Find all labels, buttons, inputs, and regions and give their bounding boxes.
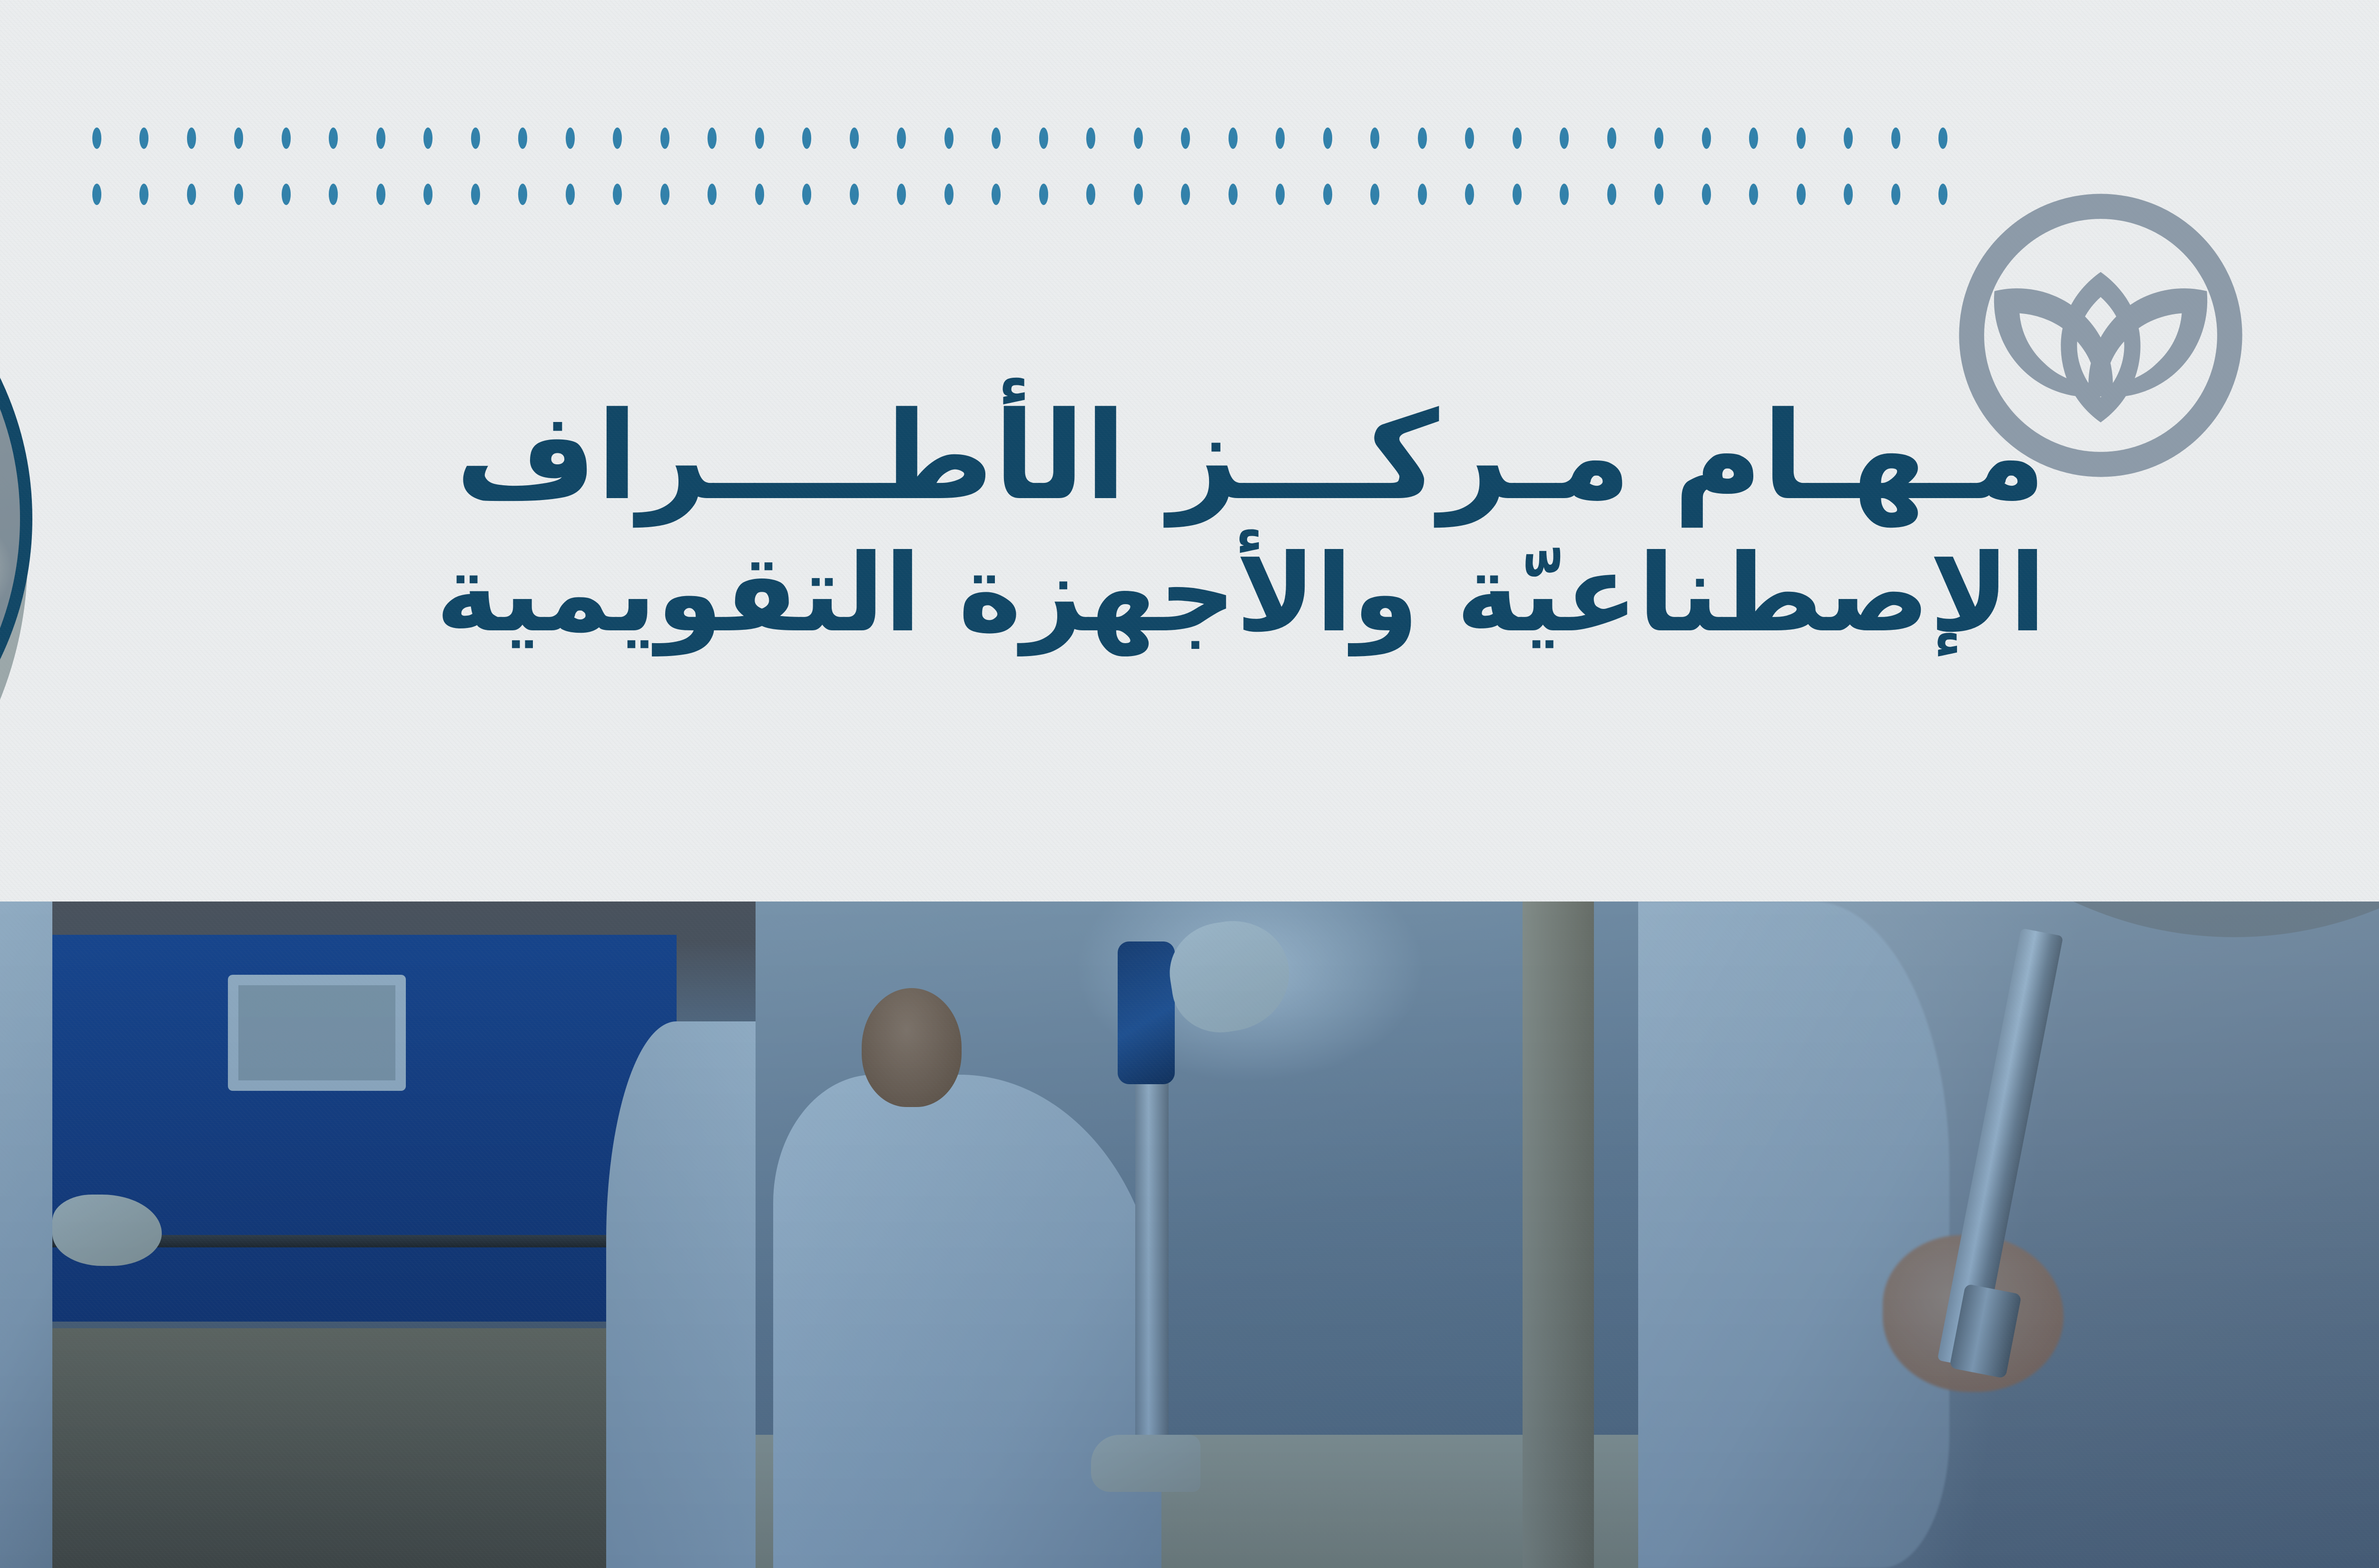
- photo-strip: [0, 902, 2379, 1568]
- dot-row-top: [92, 127, 1947, 149]
- dot: [1370, 184, 1379, 205]
- dot: [1607, 184, 1616, 205]
- dot: [1134, 184, 1143, 205]
- dot: [1370, 127, 1379, 149]
- dot: [92, 184, 101, 205]
- dot: [944, 127, 954, 149]
- dot: [1229, 184, 1238, 205]
- dot: [708, 184, 717, 205]
- dot: [1134, 127, 1143, 149]
- dot: [660, 184, 669, 205]
- dot: [1560, 127, 1569, 149]
- dot: [1323, 184, 1332, 205]
- dot: [850, 127, 859, 149]
- dot: [1513, 127, 1522, 149]
- dot: [1844, 184, 1853, 205]
- dot-row-bottom: [92, 184, 1947, 206]
- dot: [1560, 184, 1569, 205]
- dot: [329, 127, 338, 149]
- photo-blue-overlay: [0, 902, 756, 1568]
- dot: [1418, 127, 1427, 149]
- dot: [1181, 184, 1190, 205]
- dot: [897, 127, 906, 149]
- dot: [613, 184, 622, 205]
- dot: [1039, 184, 1048, 205]
- dot: [1276, 184, 1285, 205]
- dot: [1086, 184, 1095, 205]
- dot: [1465, 127, 1474, 149]
- dot: [234, 184, 243, 205]
- dot: [1654, 127, 1663, 149]
- page-title: مـهـام مـركـــز الأطــــراف الإصطناعيّة …: [0, 395, 2046, 649]
- dot: [234, 127, 243, 149]
- dot: [1749, 184, 1758, 205]
- dot: [897, 184, 906, 205]
- prosthetist-leg-photo: [756, 902, 1638, 1568]
- banner-root: مـهـام مـركـــز الأطــــراف الإصطناعيّة …: [0, 0, 2379, 1568]
- dot: [992, 127, 1001, 149]
- dot: [376, 127, 385, 149]
- dot: [1465, 184, 1474, 205]
- dot: [282, 127, 291, 149]
- dot: [376, 184, 385, 205]
- dot: [1181, 127, 1190, 149]
- dot: [1938, 184, 1947, 205]
- dot: [850, 184, 859, 205]
- dot: [660, 127, 669, 149]
- dot: [1654, 184, 1663, 205]
- dot: [518, 184, 527, 205]
- dot: [423, 127, 433, 149]
- dot: [518, 127, 527, 149]
- dot: [329, 184, 338, 205]
- dot: [566, 184, 575, 205]
- dot: [139, 184, 148, 205]
- dot: [1229, 127, 1238, 149]
- dot: [471, 184, 480, 205]
- dot: [1844, 127, 1853, 149]
- dot: [1039, 127, 1048, 149]
- dot-grid-decoration: [92, 127, 1947, 208]
- photo-blue-overlay: [756, 902, 1638, 1568]
- dot: [802, 127, 811, 149]
- dot: [1702, 184, 1711, 205]
- dot: [1323, 127, 1332, 149]
- headline-line-1: مـهـام مـركـــز الأطــــراف: [0, 395, 2046, 519]
- dot: [992, 184, 1001, 205]
- dot: [755, 184, 764, 205]
- dot: [1276, 127, 1285, 149]
- dot: [282, 184, 291, 205]
- dot: [1086, 127, 1095, 149]
- dot: [92, 127, 101, 149]
- dot: [708, 127, 717, 149]
- dot: [566, 127, 575, 149]
- dot: [1513, 184, 1522, 205]
- dot: [1702, 127, 1711, 149]
- dot: [423, 184, 433, 205]
- headline-line-2: الإصطناعيّة والأجهزة التقويمية: [0, 539, 2046, 649]
- pylon-assembly-photo: [1638, 902, 2379, 1568]
- dot: [1607, 127, 1616, 149]
- dot: [1797, 184, 1806, 205]
- photo-blue-overlay: [1638, 902, 2379, 1568]
- dot: [139, 127, 148, 149]
- dot: [1891, 127, 1900, 149]
- dot: [1891, 184, 1900, 205]
- dot: [187, 184, 196, 205]
- dot: [187, 127, 196, 149]
- dot: [613, 127, 622, 149]
- dot: [755, 127, 764, 149]
- thermoforming-oven-photo: [0, 902, 756, 1568]
- dot: [944, 184, 954, 205]
- dot: [471, 127, 480, 149]
- dot: [802, 184, 811, 205]
- dot: [1418, 184, 1427, 205]
- dot: [1938, 127, 1947, 149]
- dot: [1749, 127, 1758, 149]
- dot: [1797, 127, 1806, 149]
